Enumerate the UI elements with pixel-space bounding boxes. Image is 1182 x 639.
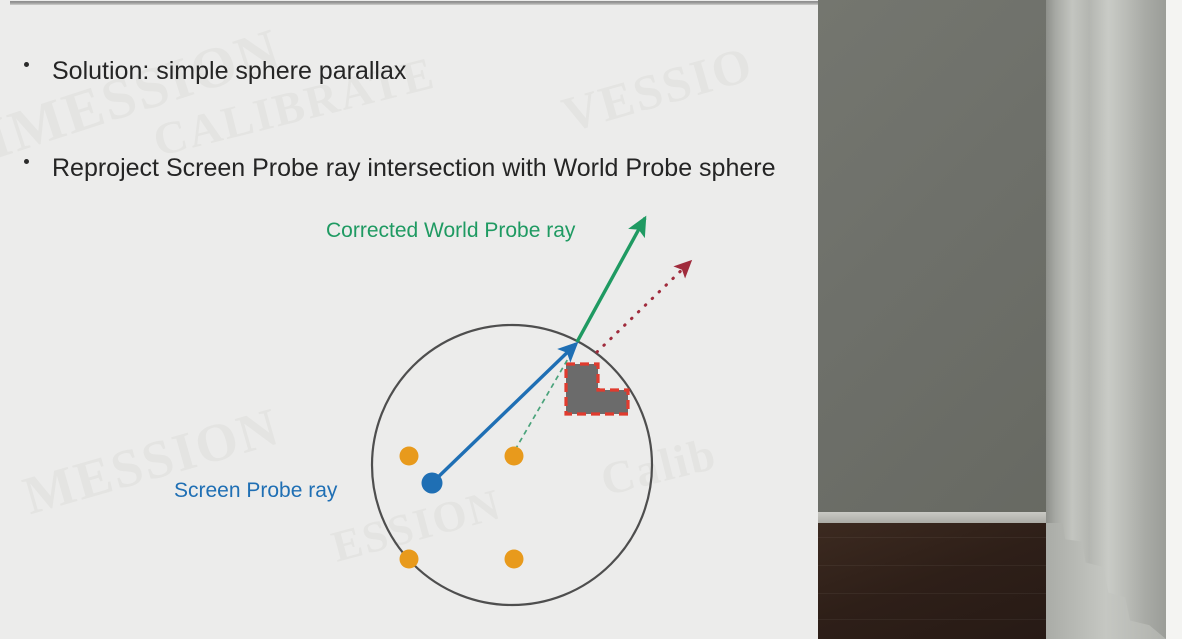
label-corrected-world-probe-ray: Corrected World Probe ray (326, 219, 575, 243)
presentation-slide: IMESSION CALIBRATE VESSIO MESSION Calib … (0, 0, 818, 639)
world-probe-dot (400, 447, 419, 466)
presenter-webcam-feed (818, 0, 1166, 639)
screen-capture: IMESSION CALIBRATE VESSIO MESSION Calib … (0, 0, 1182, 639)
capture-right-border (1166, 0, 1182, 639)
world-probe-dot (505, 550, 524, 569)
screen-probe-ray (434, 344, 576, 481)
uncorrected-world-probe-ray (597, 262, 690, 352)
world-probe-dot (505, 447, 524, 466)
room-wall (818, 0, 1060, 519)
label-screen-probe-ray: Screen Probe ray (174, 479, 337, 503)
world-probe-dot (400, 550, 419, 569)
sphere-parallax-diagram (0, 0, 818, 639)
screen-probe-origin-dot (422, 473, 443, 494)
corrected-world-probe-ray (577, 218, 645, 342)
